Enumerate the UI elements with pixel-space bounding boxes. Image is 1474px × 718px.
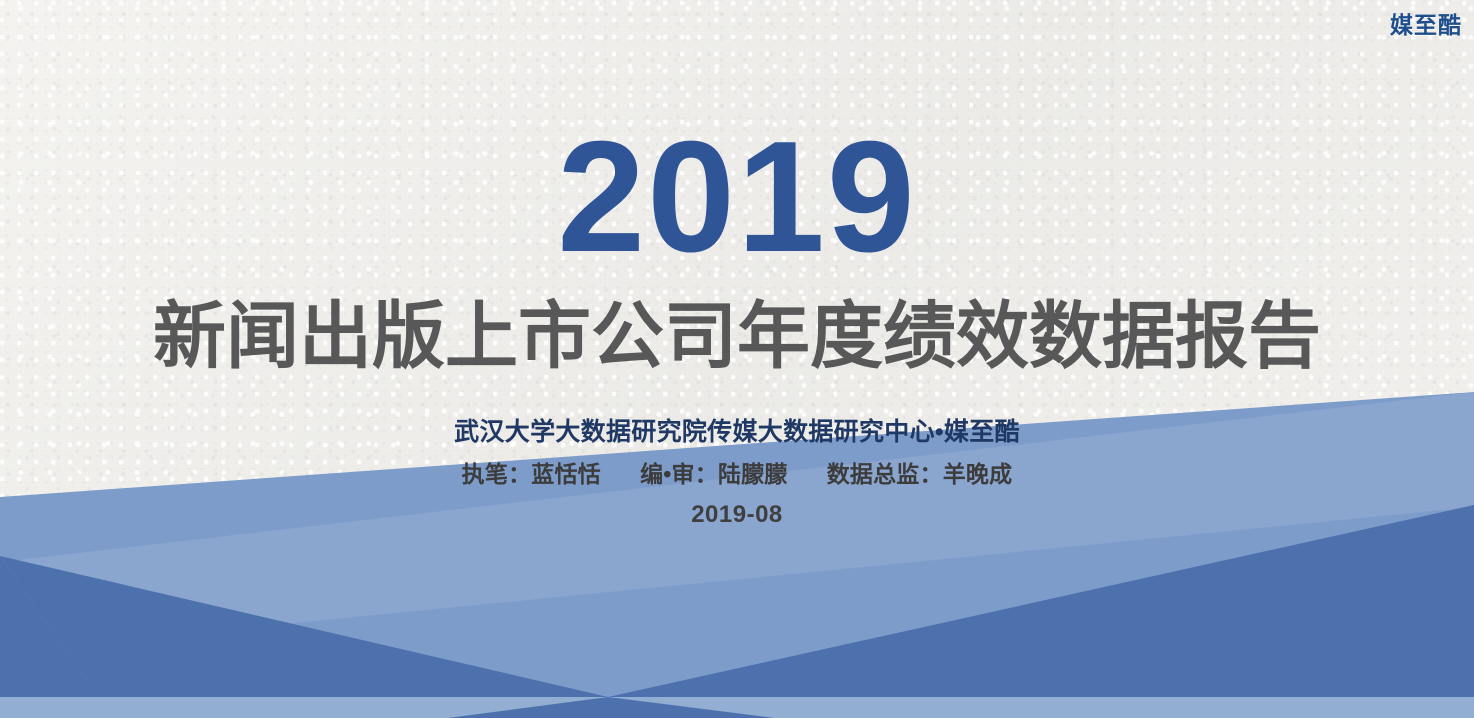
slide-content: 媒至酷 2019 新闻出版上市公司年度绩效数据报告 武汉大学大数据研究院传媒大数… — [0, 0, 1474, 718]
publication-date: 2019-08 — [0, 501, 1474, 529]
data-director-credit: 数据总监：羊晚成 — [827, 461, 1013, 487]
credits-line: 执笔：蓝恬恬 编•审：陆朦朦 数据总监：羊晚成 — [0, 455, 1474, 489]
editor-credit: 编•审：陆朦朦 — [640, 461, 787, 487]
author-credit: 执笔：蓝恬恬 — [462, 461, 601, 487]
organization-line: 武汉大学大数据研究院传媒大数据研究中心•媒至酷 — [0, 412, 1474, 448]
slide-canvas: 媒至酷 2019 新闻出版上市公司年度绩效数据报告 武汉大学大数据研究院传媒大数… — [0, 0, 1474, 718]
page-title: 新闻出版上市公司年度绩效数据报告 — [0, 298, 1474, 375]
report-year: 2019 — [0, 118, 1474, 276]
brand-logo: 媒至酷 — [1390, 6, 1462, 40]
